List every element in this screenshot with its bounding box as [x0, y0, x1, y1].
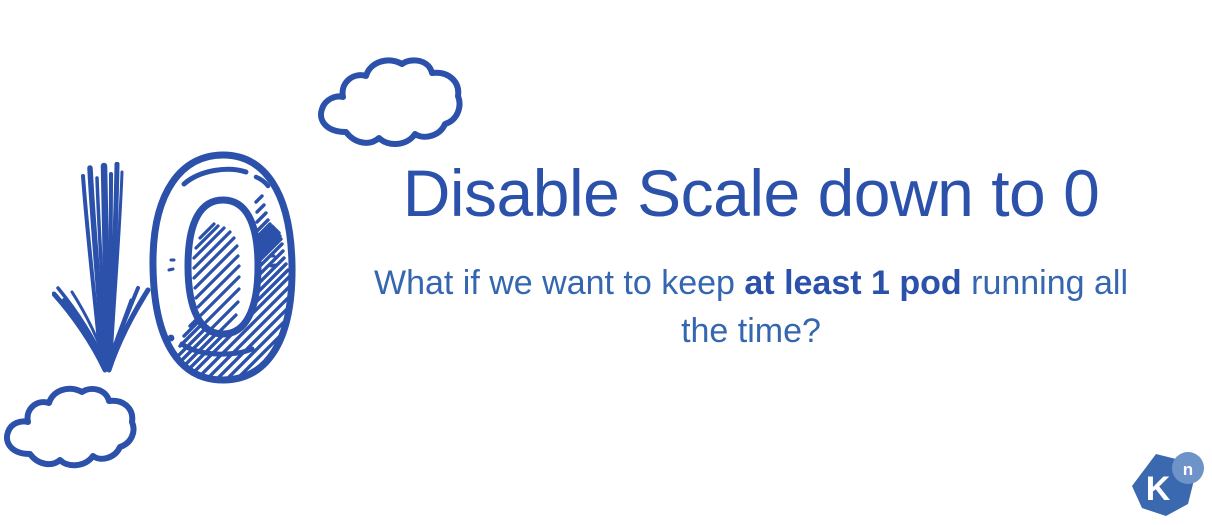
down-arrow-icon — [52, 162, 152, 378]
page-subtitle: What if we want to keep at least 1 pod r… — [366, 259, 1136, 356]
subtitle-emphasis: at least 1 pod — [744, 264, 961, 302]
cloud-bottom-icon — [2, 382, 142, 474]
logo-letter-n: n — [1183, 460, 1193, 479]
hand-drawn-zero-icon — [138, 148, 308, 388]
headline-group: Disable Scale down to 0 What if we want … — [366, 160, 1136, 356]
logo-letter-k: K — [1146, 470, 1171, 508]
knative-logo: K n — [1126, 448, 1206, 522]
page-title: Disable Scale down to 0 — [366, 160, 1136, 226]
slide-canvas: Disable Scale down to 0 What if we want … — [0, 0, 1212, 525]
cloud-top-icon — [312, 54, 464, 154]
subtitle-lead: What if we want to keep — [374, 264, 744, 302]
